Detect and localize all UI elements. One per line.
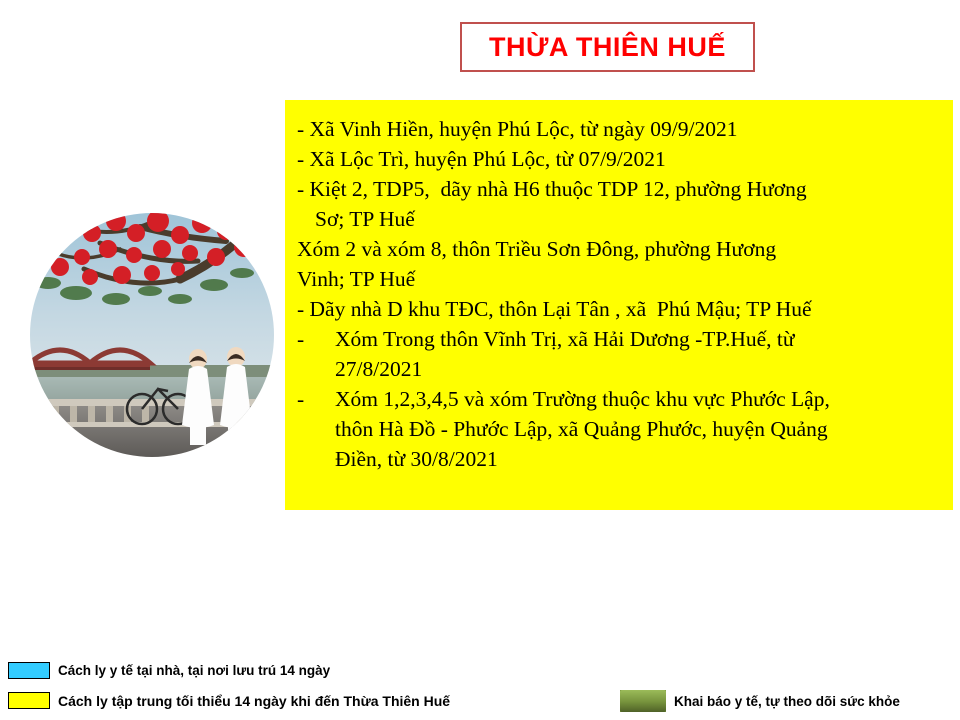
content-line: 27/8/2021 [297, 354, 939, 384]
content-line: - Xã Lộc Trì, huyện Phú Lộc, từ 07/9/202… [297, 144, 939, 174]
legend-label-green: Khai báo y tế, tự theo dõi sức khỏe [674, 694, 900, 709]
content-line: Xóm 2 và xóm 8, thôn Triều Sơn Đông, phư… [297, 234, 939, 264]
slide-title-box: THỪA THIÊN HUẾ [460, 22, 755, 72]
legend-item-blue: Cách ly y tế tại nhà, tại nơi lưu trú 14… [8, 662, 330, 679]
content-line: Sơ; TP Huế [297, 204, 939, 234]
list-bullet: - [297, 384, 335, 414]
content-panel: - Xã Vinh Hiền, huyện Phú Lộc, từ ngày 0… [285, 100, 953, 510]
page-title: THỪA THIÊN HUẾ [489, 32, 726, 63]
legend-item-green: Khai báo y tế, tự theo dõi sức khỏe [620, 690, 900, 712]
content-line: - Xóm 1,2,3,4,5 và xóm Trường thuộc khu … [297, 384, 939, 414]
photo-circle [30, 213, 274, 457]
list-bullet: - [297, 324, 335, 354]
content-line: Điền, từ 30/8/2021 [297, 444, 939, 474]
legend-item-yellow: Cách ly tập trung tối thiểu 14 ngày khi … [8, 692, 450, 709]
legend-swatch-yellow [8, 692, 50, 709]
content-line: - Dãy nhà D khu TĐC, thôn Lại Tân , xã P… [297, 294, 939, 324]
legend-label-yellow: Cách ly tập trung tối thiểu 14 ngày khi … [58, 693, 450, 709]
legend-swatch-green [620, 690, 666, 712]
content-line: - Kiệt 2, TDP5, dãy nhà H6 thuộc TDP 12,… [297, 174, 939, 204]
content-line-text: Xóm 1,2,3,4,5 và xóm Trường thuộc khu vự… [335, 384, 939, 414]
content-line: Vinh; TP Huế [297, 264, 939, 294]
content-line-text: Xóm Trong thôn Vĩnh Trị, xã Hải Dương -T… [335, 324, 939, 354]
photo-illustration [30, 213, 274, 457]
content-line: - Xã Vinh Hiền, huyện Phú Lộc, từ ngày 0… [297, 114, 939, 144]
legend-label-blue: Cách ly y tế tại nhà, tại nơi lưu trú 14… [58, 663, 330, 678]
content-line: - Xóm Trong thôn Vĩnh Trị, xã Hải Dương … [297, 324, 939, 354]
content-line: thôn Hà Đồ - Phước Lập, xã Quảng Phước, … [297, 414, 939, 444]
legend-swatch-blue [8, 662, 50, 679]
